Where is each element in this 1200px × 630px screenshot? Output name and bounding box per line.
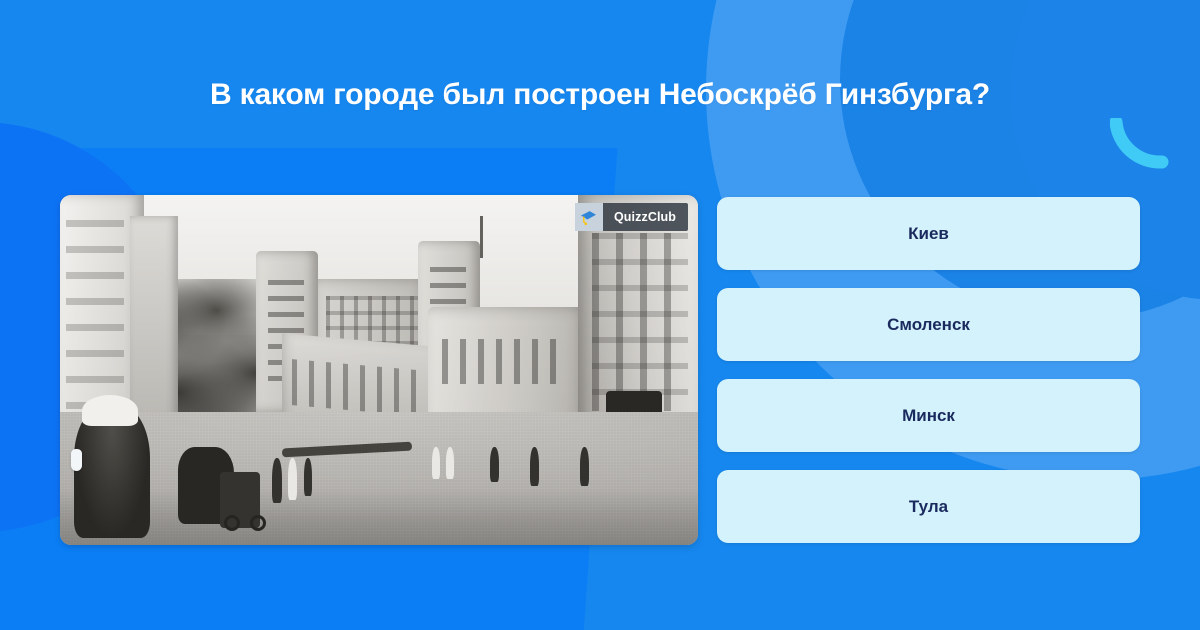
photo-person bbox=[530, 447, 539, 486]
photo-street-shadow bbox=[60, 489, 698, 545]
quiz-card: В каком городе был построен Небоскрёб Ги… bbox=[0, 0, 1200, 630]
answer-option-1[interactable]: Киев bbox=[717, 197, 1140, 270]
question-text: В каком городе был построен Небоскрёб Ги… bbox=[140, 78, 1060, 112]
answer-option-label: Минск bbox=[902, 406, 955, 426]
answer-option-label: Киев bbox=[908, 224, 949, 244]
photo-person bbox=[446, 447, 454, 479]
photo-cart-wheel bbox=[224, 515, 240, 531]
photo-person bbox=[288, 458, 297, 500]
drag-handle[interactable] bbox=[71, 449, 82, 471]
answer-option-2[interactable]: Смоленск bbox=[717, 288, 1140, 361]
photo-person bbox=[272, 458, 282, 504]
answer-option-label: Тула bbox=[909, 497, 948, 517]
question-image-card: QuizzClub bbox=[60, 195, 698, 545]
answer-option-3[interactable]: Минск bbox=[717, 379, 1140, 452]
question-header: В каком городе был построен Небоскрёб Ги… bbox=[0, 0, 1200, 190]
quiz-body: QuizzClub Киев Смоленск Минск Тула bbox=[0, 190, 1200, 630]
photo-person bbox=[432, 447, 440, 479]
watermark-label: QuizzClub bbox=[614, 210, 676, 224]
photo-spire bbox=[480, 216, 483, 258]
photo-cart-wheel bbox=[250, 515, 266, 531]
photo-person bbox=[490, 447, 499, 482]
photo-foreground-person-cap bbox=[82, 395, 138, 427]
answer-option-label: Смоленск bbox=[887, 315, 970, 335]
question-image bbox=[60, 195, 698, 545]
answer-option-4[interactable]: Тула bbox=[717, 470, 1140, 543]
photo-person bbox=[304, 458, 312, 497]
graduation-cap-icon bbox=[575, 203, 603, 231]
watermark: QuizzClub bbox=[575, 203, 688, 231]
photo-person bbox=[580, 447, 589, 486]
answer-options-list: Киев Смоленск Минск Тула bbox=[717, 197, 1140, 543]
